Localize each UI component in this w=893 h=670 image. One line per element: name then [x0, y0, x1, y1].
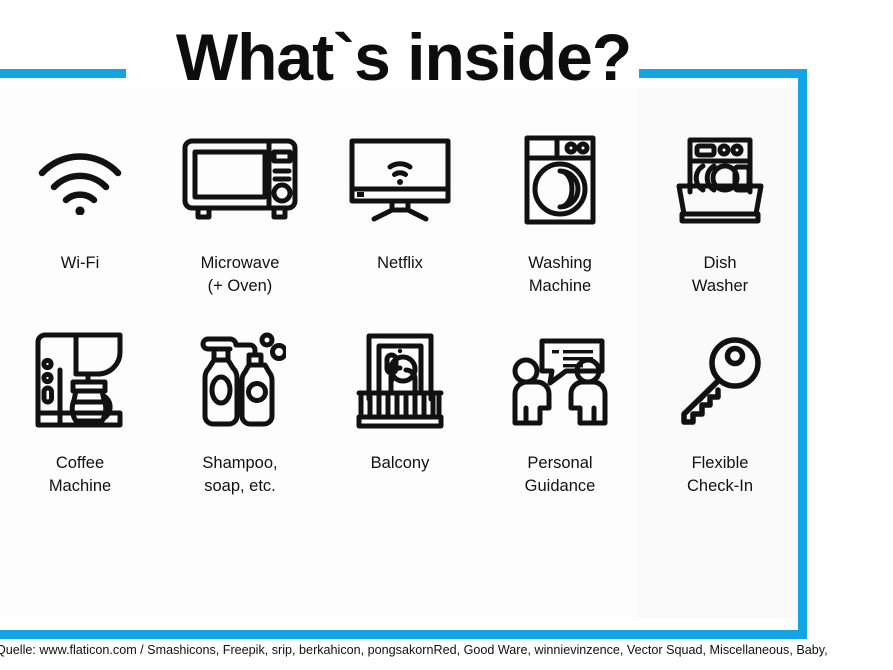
amenity-grid: Wi-Fi	[0, 130, 800, 540]
amenity-label: Balcony	[371, 452, 430, 475]
amenity-label: Microwave (+ Oven)	[201, 252, 280, 299]
accent-bar-bottom	[0, 630, 807, 639]
amenity-item-personal-guidance[interactable]: Personal Guidance	[480, 330, 640, 499]
washing-machine-icon	[523, 130, 597, 230]
amenity-item-shampoo[interactable]: Shampoo, soap, etc.	[160, 330, 320, 499]
amenity-label: Shampoo, soap, etc.	[202, 452, 277, 499]
smart-tv-icon	[348, 130, 452, 230]
balcony-icon	[353, 330, 447, 430]
amenity-row: Wi-Fi	[0, 130, 800, 330]
source-credit: Quelle: www.flaticon.com / Smashicons, F…	[0, 643, 893, 657]
amenity-label: Netflix	[377, 252, 423, 275]
amenity-row: Coffee Machine	[0, 330, 800, 540]
wifi-icon	[36, 130, 124, 230]
amenity-item-dishwasher[interactable]: Dish Washer	[640, 130, 800, 299]
amenity-label: Personal Guidance	[525, 452, 596, 499]
amenity-label: Washing Machine	[528, 252, 592, 299]
slide-canvas: What`s inside? Wi-Fi	[0, 0, 893, 670]
amenity-label: Coffee Machine	[49, 452, 111, 499]
amenity-item-balcony[interactable]: Balcony	[320, 330, 480, 475]
amenity-item-coffee-machine[interactable]: Coffee Machine	[0, 330, 160, 499]
amenity-item-flexible-checkin[interactable]: Flexible Check-In	[640, 330, 800, 499]
coffee-machine-icon	[32, 330, 128, 430]
amenity-item-washing-machine[interactable]: Washing Machine	[480, 130, 640, 299]
microwave-icon	[181, 130, 299, 230]
amenity-label: Flexible Check-In	[687, 452, 753, 499]
amenity-item-microwave[interactable]: Microwave (+ Oven)	[160, 130, 320, 299]
dishwasher-icon	[673, 130, 767, 230]
amenity-label: Wi-Fi	[61, 252, 99, 275]
key-icon	[677, 330, 763, 430]
amenity-item-wifi[interactable]: Wi-Fi	[0, 130, 160, 275]
amenity-item-netflix[interactable]: Netflix	[320, 130, 480, 275]
page-title: What`s inside?	[0, 24, 807, 90]
amenity-label: Dish Washer	[692, 252, 748, 299]
two-people-chat-icon	[510, 330, 610, 430]
soap-bottles-icon	[194, 330, 286, 430]
